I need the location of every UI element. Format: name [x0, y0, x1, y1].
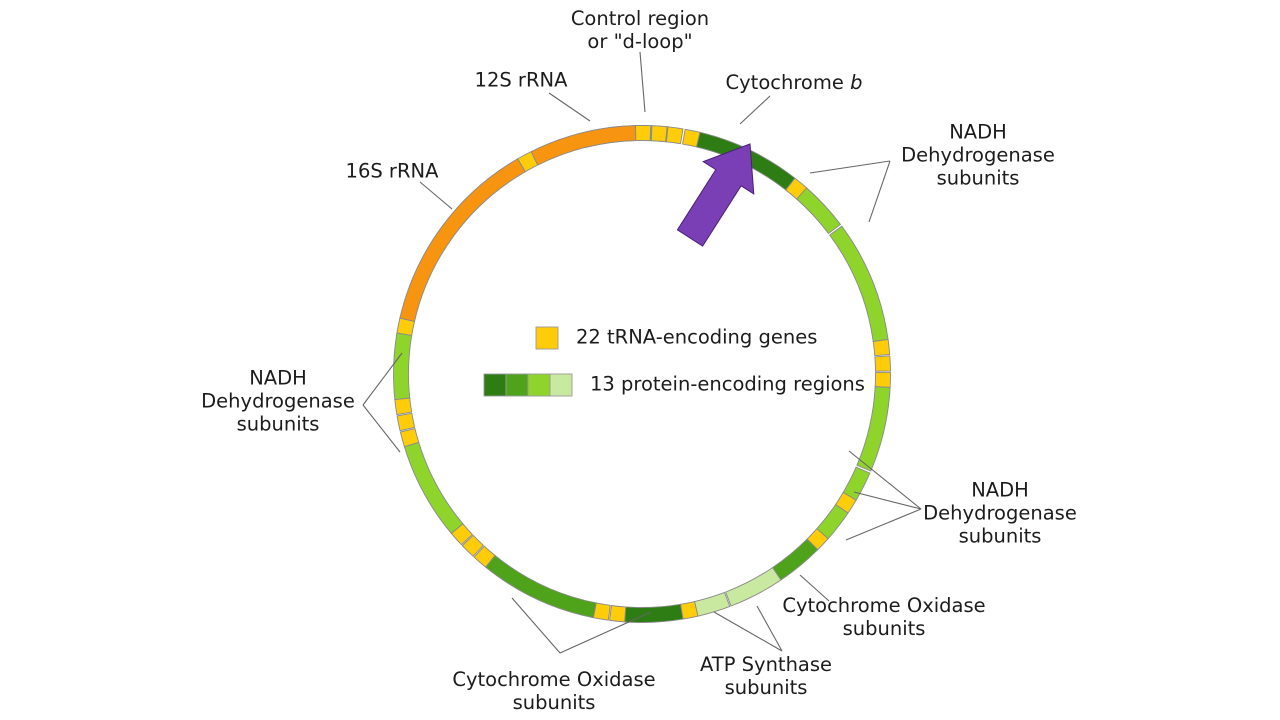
label-nadh-dehydrogenase-lower-right: NADH [971, 479, 1029, 502]
label-nadh-dehydrogenase-upper-right: Dehydrogenase [901, 144, 1055, 167]
replication-direction-arrow [677, 144, 753, 246]
mitochondrial-genome-diagram: Control regionor "d-loop"12S rRNA16S rRN… [0, 0, 1280, 720]
label-12s-rrna: 12S rRNA [475, 69, 569, 92]
label-cytochrome-oxidase-bottom: subunits [513, 691, 596, 714]
ring-segment-trna [395, 398, 412, 415]
ring-segment-nd5 [830, 226, 888, 341]
label-nadh-dehydrogenase-left: NADH [249, 367, 307, 390]
leader-12s-rrna [549, 93, 590, 121]
legend-label: 13 protein-encoding regions [590, 373, 865, 396]
label-cytochrome-oxidase-bottom: Cytochrome Oxidase [452, 668, 655, 691]
ring-segment-cytochrome-oxidase-3 [773, 539, 818, 580]
label-atp-synthase: subunits [725, 676, 808, 699]
ring-segment-atp-synthase-8 [695, 592, 730, 616]
leader-16s-rrna [420, 182, 452, 209]
leader-nadh-dehydrogenase-upper-right [810, 161, 890, 173]
label-cytochrome-oxidase-right: subunits [843, 617, 926, 640]
ring-segment-trna [681, 602, 698, 620]
leader-atp-synthase [714, 612, 782, 651]
replication-direction-arrow [677, 144, 753, 246]
ring-segment-atp-synthase-6 [726, 568, 781, 606]
leader-nadh-dehydrogenase-upper-right [869, 161, 890, 222]
ring-segment-trna [873, 339, 890, 355]
label-nadh-dehydrogenase-upper-right: NADH [949, 121, 1007, 144]
label-control-region: or "d-loop" [587, 30, 692, 53]
ring-segment-nd4 [857, 387, 890, 471]
ring-segment-trna [397, 413, 415, 430]
ring-segment-trna [651, 126, 667, 142]
legend: 22 tRNA-encoding genes13 protein-encodin… [484, 326, 865, 397]
label-atp-synthase: ATP Synthase [700, 653, 832, 676]
label-nadh-dehydrogenase-upper-right: subunits [937, 167, 1020, 190]
label-cytochrome-oxidase-right: Cytochrome Oxidase [782, 594, 985, 617]
leader-cytochrome-b [740, 96, 770, 124]
ring-segment-nd6 [797, 188, 841, 234]
legend-swatch [484, 374, 506, 396]
ring-segment-cytochrome-oxidase-1 [486, 555, 597, 617]
label-cytochrome-b: Cytochrome b [726, 71, 863, 94]
legend-swatch [506, 374, 528, 396]
ring-segment-nd1 [394, 333, 412, 400]
leader-nadh-dehydrogenase-lower-right [846, 509, 921, 540]
ring-segment-16s-rrna [400, 159, 525, 322]
ring-segment-trna [875, 372, 890, 387]
ring-segment-trna [635, 126, 650, 141]
legend-swatch [550, 374, 572, 396]
legend-label: 22 tRNA-encoding genes [576, 326, 817, 349]
genome-map-svg: Control regionor "d-loop"12S rRNA16S rRN… [0, 0, 1280, 720]
ring-segment-trna [666, 127, 683, 144]
label-nadh-dehydrogenase-left: Dehydrogenase [201, 390, 355, 413]
ring-segment-12s-rrna [531, 126, 636, 165]
ring-segment-trna [610, 606, 626, 622]
leader-lines [363, 52, 921, 653]
label-control-region: Control region [571, 7, 709, 30]
ring-segment-trna [875, 356, 891, 371]
label-nadh-dehydrogenase-left: subunits [237, 413, 320, 436]
leader-control-region [640, 52, 645, 112]
label-nadh-dehydrogenase-lower-right: Dehydrogenase [923, 502, 1077, 525]
label-nadh-dehydrogenase-lower-right: subunits [959, 525, 1042, 548]
legend-swatch [536, 327, 558, 349]
label-16s-rrna: 16S rRNA [346, 160, 440, 183]
leader-nadh-dehydrogenase-left [363, 405, 400, 452]
legend-swatch [528, 374, 550, 396]
ring-segment-nd2 [404, 442, 463, 533]
